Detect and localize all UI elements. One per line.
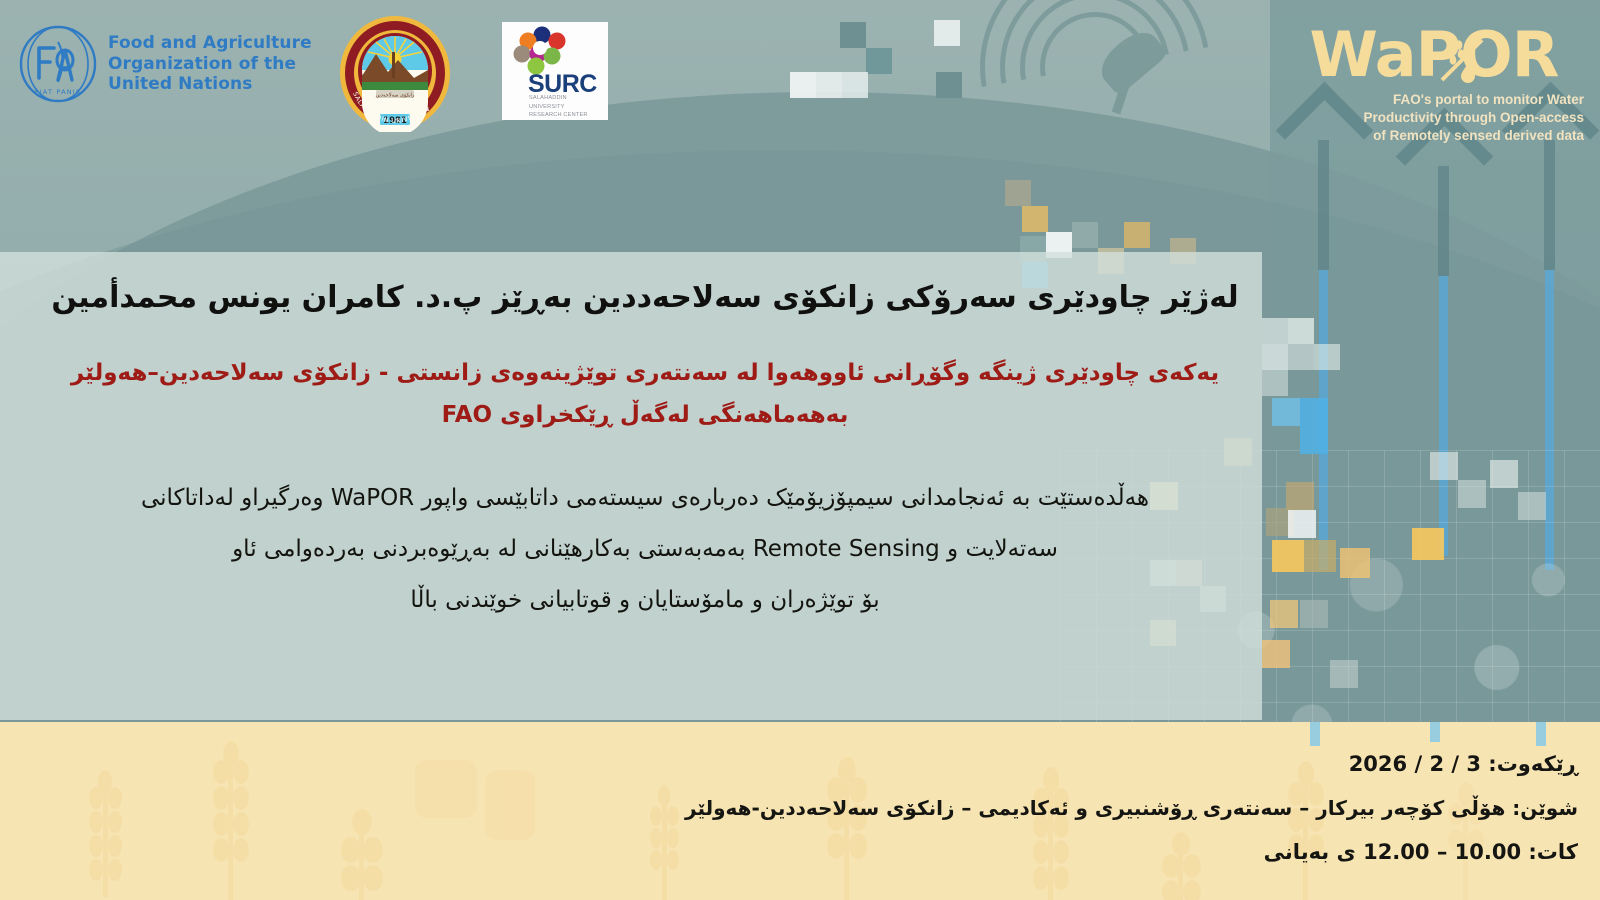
event-time: کات: 10.00 – 12.00 ی بەیانی bbox=[18, 830, 1578, 875]
footer-details: ڕێکەوت: 3 / 2 / 2026 شوێن: هۆڵی کۆچەر بی… bbox=[18, 742, 1578, 875]
surc-subtitle-line-2: UNIVERSITY bbox=[529, 103, 588, 112]
description-block: هەڵدەستێت بە ئەنجامدانی سیمپۆزیۆمێک دەرب… bbox=[18, 475, 1272, 624]
svg-text:ERBIL: ERBIL bbox=[381, 104, 409, 114]
poster-header: FIAT PANIS Food and Agriculture Organiza… bbox=[0, 0, 1600, 150]
fao-logo-text: Food and Agriculture Organization of the… bbox=[108, 33, 312, 95]
salahaddin-university-seal-icon: زانكۆى سەلاحەدين ERBIL هەولێر 1981 SALAH… bbox=[336, 14, 454, 132]
svg-text:FIAT PANIS: FIAT PANIS bbox=[35, 88, 82, 96]
poster-content: لەژێر چاودێری سەرۆکی زانکۆی سەلاحەددین ب… bbox=[0, 252, 1290, 722]
organizer-block: یەکەی چاودێری ژینگە وگۆڕانی ئاووهەوا لە … bbox=[36, 352, 1254, 437]
wapor-tagline-line-3: of Remotely sensed derived data bbox=[1284, 127, 1584, 145]
wapor-logo: WaPOR FAO's portal to monitor Water Prod… bbox=[1284, 26, 1584, 146]
svg-text:زانكۆى سەلاحەدين: زانكۆى سەلاحەدين bbox=[376, 93, 416, 99]
fao-text-line-3: United Nations bbox=[108, 74, 312, 95]
event-poster: FIAT PANIS Food and Agriculture Organiza… bbox=[0, 0, 1600, 900]
wapor-wheat-droplet-icon bbox=[1434, 32, 1490, 88]
wapor-tagline-line-1: FAO's portal to monitor Water bbox=[1284, 91, 1584, 109]
surc-subtitle: SALAHADDIN UNIVERSITY RESEARCH CENTER bbox=[529, 94, 588, 120]
wapor-tagline: FAO's portal to monitor Water Productivi… bbox=[1284, 91, 1584, 146]
description-line-3: بۆ توێژەران و مامۆستایان و قوتابیانی خوێ… bbox=[18, 577, 1272, 624]
wapor-tagline-line-2: Productivity through Open-access bbox=[1284, 109, 1584, 127]
event-date: ڕێکەوت: 3 / 2 / 2026 bbox=[18, 742, 1578, 787]
surc-subtitle-line-1: SALAHADDIN bbox=[529, 94, 588, 103]
organizer-line-2: بەهەماهەنگی لەگەڵ ڕێکخراوی FAO bbox=[36, 394, 1254, 437]
fao-logo: FIAT PANIS Food and Agriculture Organiza… bbox=[18, 24, 312, 104]
surc-logo: SURC SALAHADDIN UNIVERSITY RESEARCH CENT… bbox=[502, 22, 608, 120]
description-line-2: سەتەلایت و Remote Sensing بەمەبەستی بەکا… bbox=[18, 526, 1272, 573]
surc-subtitle-line-3: RESEARCH CENTER bbox=[529, 111, 588, 120]
fao-emblem-icon: FIAT PANIS bbox=[18, 24, 98, 104]
event-venue: شوێن: هۆڵی کۆچەر بیرکار – سەنتەری ڕۆشنبی… bbox=[18, 787, 1578, 830]
organizer-line-1: یەکەی چاودێری ژینگە وگۆڕانی ئاووهەوا لە … bbox=[36, 352, 1254, 395]
fao-text-line-1: Food and Agriculture bbox=[108, 33, 312, 54]
description-line-1: هەڵدەستێت بە ئەنجامدانی سیمپۆزیۆمێک دەرب… bbox=[18, 475, 1272, 522]
arrow-stem-remnant-2 bbox=[1430, 722, 1440, 742]
patronage-title: لەژێر چاودێری سەرۆکی زانکۆی سەلاحەددین ب… bbox=[40, 276, 1250, 320]
fao-text-line-2: Organization of the bbox=[108, 54, 312, 75]
wapor-wordmark: WaPOR bbox=[1284, 26, 1584, 85]
